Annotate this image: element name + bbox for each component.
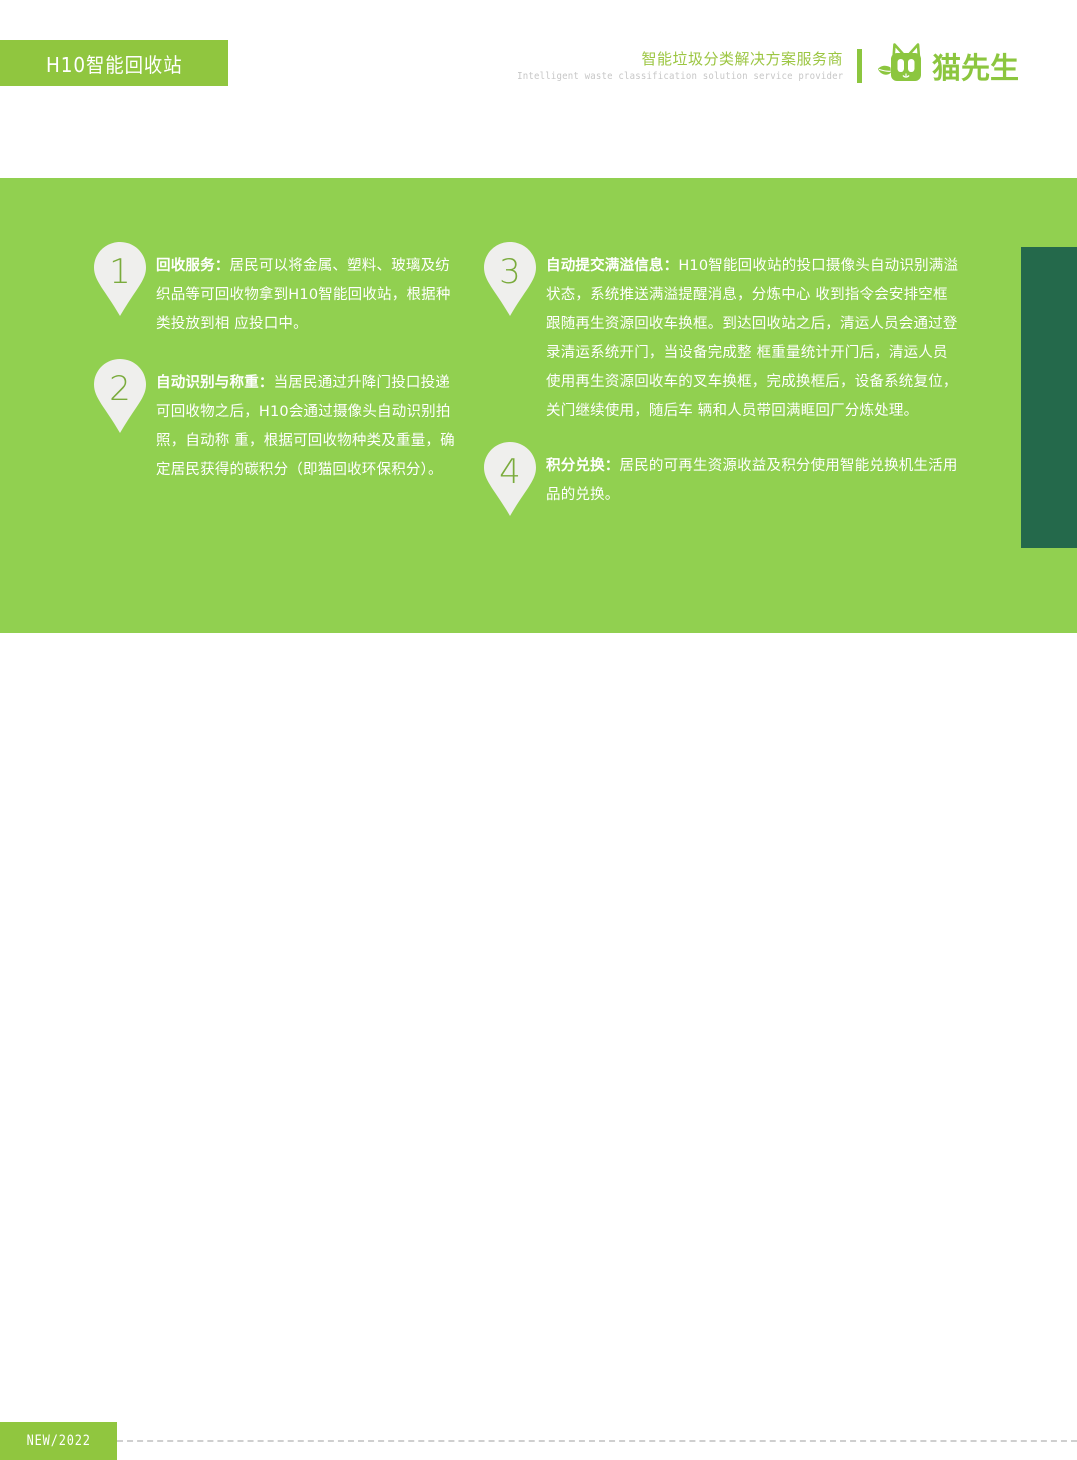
feature-item-number: 3 xyxy=(482,252,538,292)
feature-item-text: 自动识别与称重：当居民通过升降门投口投递可回收物之后，H10会通过摄像头自动识别… xyxy=(156,357,462,485)
feature-list: 1 回收服务：居民可以将金属、塑料、玻璃及纺织品等可回收物拿到H10智能回收站，… xyxy=(0,178,1077,633)
map-pin-icon: 3 xyxy=(482,240,538,318)
feature-item-text: 积分兑换：居民的可再生资源收益及积分使用智能兑换机生活用品的兑换。 xyxy=(546,440,960,510)
feature-column-right: 3 自动提交满溢信息：H10智能回收站的投口摄像头自动识别满溢状态，系统推送满溢… xyxy=(482,178,960,532)
page-header: H10智能回收站 智能垃圾分类解决方案服务商 Intelligent waste… xyxy=(0,0,1077,130)
footer-badge-label: NEW/2022 xyxy=(26,1433,90,1449)
brand-block: 智能垃圾分类解决方案服务商 Intelligent waste classifi… xyxy=(500,40,1019,92)
brand-logo: 猫先生 xyxy=(876,42,1019,91)
footer-dashed-divider xyxy=(117,1440,1077,1442)
feature-item-body: H10智能回收站的投口摄像头自动识别满溢状态，系统推送满溢提醒消息，分炼中心 收… xyxy=(546,258,958,419)
feature-item-number: 1 xyxy=(92,252,148,292)
feature-item-heading: 积分兑换： xyxy=(546,458,620,474)
tagline-chinese: 智能垃圾分类解决方案服务商 xyxy=(500,49,843,69)
brand-name: 猫先生 xyxy=(932,45,1019,87)
cat-head-icon xyxy=(876,42,928,91)
footer-badge: NEW/2022 xyxy=(0,1422,117,1460)
page-title: H10智能回收站 xyxy=(46,49,183,78)
feature-item-heading: 回收服务： xyxy=(156,258,230,274)
brand-taglines: 智能垃圾分类解决方案服务商 Intelligent waste classifi… xyxy=(500,49,843,84)
feature-item: 2 自动识别与称重：当居民通过升降门投口投递可回收物之后，H10会通过摄像头自动… xyxy=(92,357,462,485)
page-title-badge: H10智能回收站 xyxy=(0,40,228,86)
feature-item: 4 积分兑换：居民的可再生资源收益及积分使用智能兑换机生活用品的兑换。 xyxy=(482,440,960,518)
feature-item-number: 2 xyxy=(92,369,148,409)
vertical-bar-divider-icon xyxy=(857,49,862,83)
feature-item-heading: 自动提交满溢信息： xyxy=(546,258,678,274)
feature-item-number: 4 xyxy=(482,452,538,492)
feature-item-heading: 自动识别与称重： xyxy=(156,375,274,391)
page-footer: NEW/2022 xyxy=(0,693,1077,793)
feature-item: 3 自动提交满溢信息：H10智能回收站的投口摄像头自动识别满溢状态，系统推送满溢… xyxy=(482,240,960,426)
map-pin-icon: 4 xyxy=(482,440,538,518)
map-pin-icon: 1 xyxy=(92,240,148,318)
feature-item-text: 回收服务：居民可以将金属、塑料、玻璃及纺织品等可回收物拿到H10智能回收站，根据… xyxy=(156,240,462,339)
tagline-english: Intelligent waste classification solutio… xyxy=(517,69,843,84)
feature-item: 1 回收服务：居民可以将金属、塑料、玻璃及纺织品等可回收物拿到H10智能回收站，… xyxy=(92,240,462,339)
feature-column-left: 1 回收服务：居民可以将金属、塑料、玻璃及纺织品等可回收物拿到H10智能回收站，… xyxy=(92,178,462,499)
map-pin-icon: 2 xyxy=(92,357,148,435)
feature-item-text: 自动提交满溢信息：H10智能回收站的投口摄像头自动识别满溢状态，系统推送满溢提醒… xyxy=(546,240,960,426)
